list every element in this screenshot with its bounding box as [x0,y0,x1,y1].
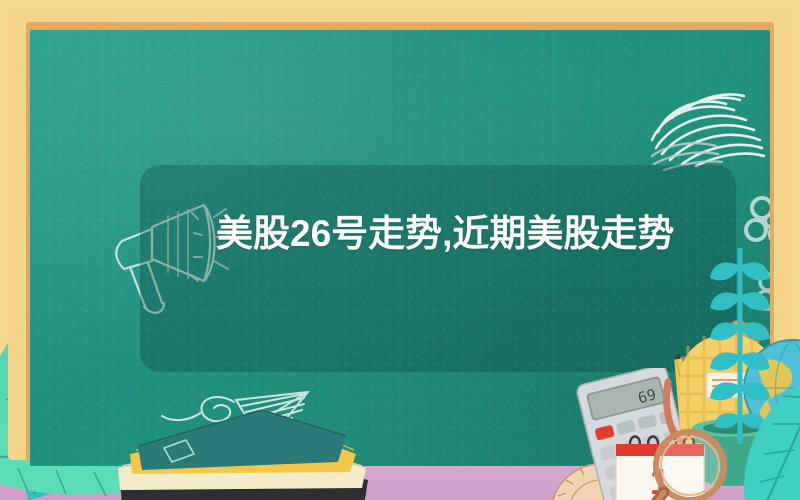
chalk-cloud-doodle [642,78,770,174]
leaves-right-large [736,372,800,500]
book-stack [112,410,372,500]
poster-canvas: 美股26号走势,近期美股走势 [0,0,800,500]
headline-panel [140,165,736,372]
flower-doodle-large [742,192,770,252]
page-title: 美股26号走势,近期美股走势 [216,208,686,260]
